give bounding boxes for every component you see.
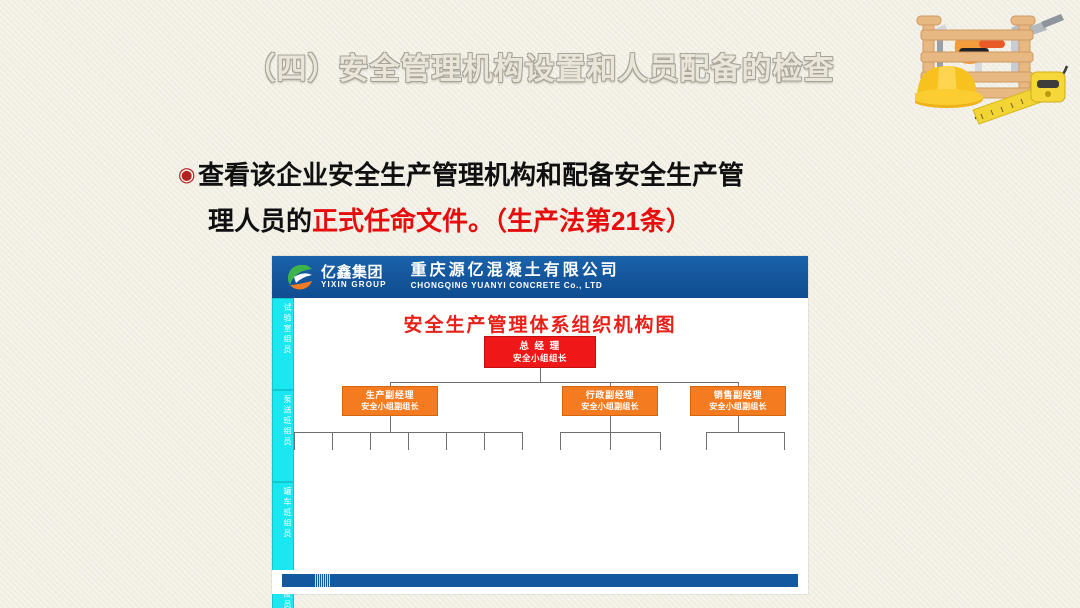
orgchart-body: 安全生产管理体系组织机构图 生产副经理 安全小组副组长 行政副经理 安全小组副组… [272, 298, 808, 570]
orgchart-image: 亿鑫集团 YIXIN GROUP 重庆源亿混凝土有限公司 CHONGQING Y… [272, 256, 808, 594]
connector [522, 432, 523, 450]
org-node-line2: 安全小组副组长 [709, 402, 766, 412]
org-node-leaf: 试验室组员 [272, 298, 294, 390]
org-node-leaf: 泵送班组员 [272, 390, 294, 482]
orgchart-footer [272, 570, 808, 594]
connector [738, 416, 739, 432]
connector [660, 432, 661, 450]
body-text-block: ◉查看该企业安全生产管理机构和配备安全生产管 理人员的正式任命文件。（生产法第2… [178, 152, 838, 244]
org-node-line1: 总 经 理 [519, 341, 560, 353]
connector [610, 416, 611, 432]
yixin-swoosh-icon [286, 263, 316, 291]
bullet-line-2-highlight: 正式任命文件。（生产法第21条） [312, 206, 692, 236]
connector [706, 432, 784, 433]
org-node-root: 总 经 理 安全小组组长 [484, 336, 596, 368]
org-node-leaf: 罐车班组员 [272, 482, 294, 574]
org-node-line2: 安全小组组长 [513, 353, 567, 364]
footer-ticks-decor [314, 574, 330, 587]
connector [540, 368, 541, 382]
connector [408, 432, 409, 450]
org-node-line2: 安全小组副组长 [361, 402, 418, 412]
connector [484, 432, 485, 450]
footer-bar [282, 574, 798, 587]
connector [294, 432, 295, 450]
org-node-line1: 行政副经理 [586, 390, 635, 401]
bullet-line-2-prefix: 理人员的 [208, 206, 312, 236]
org-node-middle: 生产副经理 安全小组副组长 [342, 386, 438, 416]
bullet-line-1-text: 查看该企业安全生产管理机构和配备安全生产管 [198, 160, 744, 190]
company-name: 重庆源亿混凝土有限公司 CHONGQING YUANYI CONCRETE Co… [411, 263, 620, 290]
company-name-en: CHONGQING YUANYI CONCRETE Co., LTD [411, 282, 620, 290]
company-logo: 亿鑫集团 YIXIN GROUP [286, 263, 387, 291]
org-node-line2: 安全小组副组长 [581, 402, 638, 412]
connector [784, 432, 785, 450]
connector [610, 432, 611, 450]
connector [446, 432, 447, 450]
bullet-line-2: 理人员的正式任命文件。（生产法第21条） [178, 198, 838, 244]
logo-name-en: YIXIN GROUP [321, 281, 387, 289]
connector [390, 382, 738, 383]
connector [560, 432, 561, 450]
logo-name-cn: 亿鑫集团 [321, 265, 387, 280]
connector [332, 432, 333, 450]
org-node-middle: 销售副经理 安全小组副组长 [690, 386, 786, 416]
connector [370, 432, 371, 450]
page-title: （四）安全管理机构设置和人员配备的检查 [0, 44, 1080, 88]
bullet-line-1: ◉查看该企业安全生产管理机构和配备安全生产管 [178, 152, 838, 198]
orgchart-banner: 亿鑫集团 YIXIN GROUP 重庆源亿混凝土有限公司 CHONGQING Y… [272, 256, 808, 298]
orgchart-canvas: 生产副经理 安全小组副组长 行政副经理 安全小组副组长 销售副经理 安全小组副组… [272, 298, 808, 570]
org-node-line1: 生产副经理 [366, 390, 415, 401]
logo-text: 亿鑫集团 YIXIN GROUP [321, 265, 387, 289]
bullet-marker-icon: ◉ [178, 152, 198, 198]
connector [706, 432, 707, 450]
company-name-cn: 重庆源亿混凝土有限公司 [411, 263, 620, 279]
connector [390, 416, 391, 432]
org-node-middle: 行政副经理 安全小组副组长 [562, 386, 658, 416]
org-node-line1: 销售副经理 [714, 390, 763, 401]
